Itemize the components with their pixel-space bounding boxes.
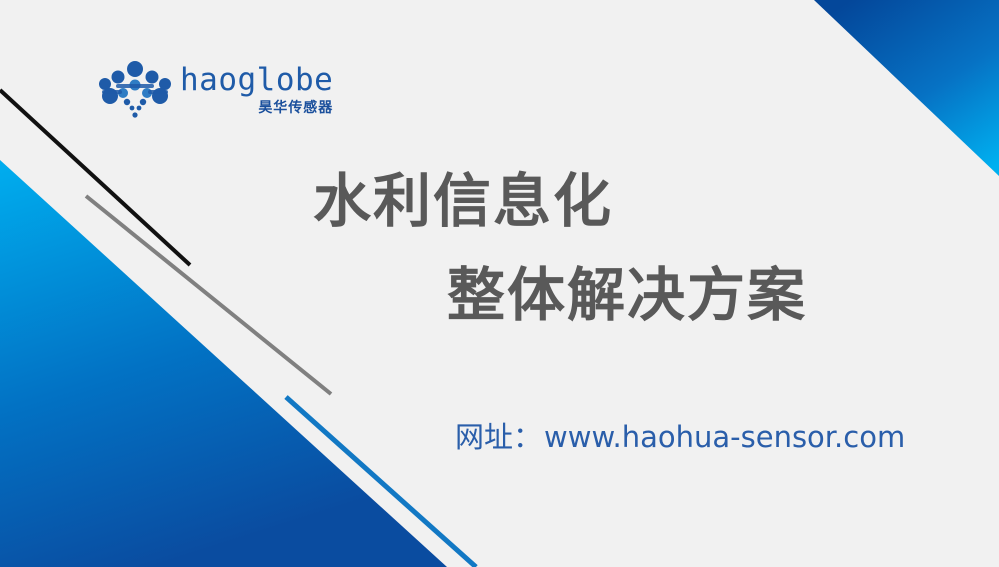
logo-subtitle: 昊华传感器	[258, 101, 333, 115]
blue-diagonal-line	[286, 397, 476, 567]
page-title-line-1: 水利信息化	[313, 172, 613, 230]
website-url[interactable]: www.haohua-sensor.com	[544, 420, 905, 454]
website-label: 网址：	[455, 420, 542, 454]
logo-wordmark: haoglobe	[180, 65, 333, 96]
page-title-line-2: 整体解决方案	[447, 266, 807, 324]
haoglobe-network-nodes-icon	[96, 60, 174, 120]
right-blue-triangle	[814, 0, 999, 176]
presentation-title-slide: haoglobe 昊华传感器 水利信息化 整体解决方案 网址：www.haohu…	[0, 0, 999, 567]
gray-diagonal-line	[86, 196, 331, 394]
website-line: 网址：www.haohua-sensor.com	[455, 423, 905, 452]
logo-text-block: haoglobe 昊华传感器	[180, 65, 333, 115]
company-logo: haoglobe 昊华传感器	[96, 55, 326, 125]
